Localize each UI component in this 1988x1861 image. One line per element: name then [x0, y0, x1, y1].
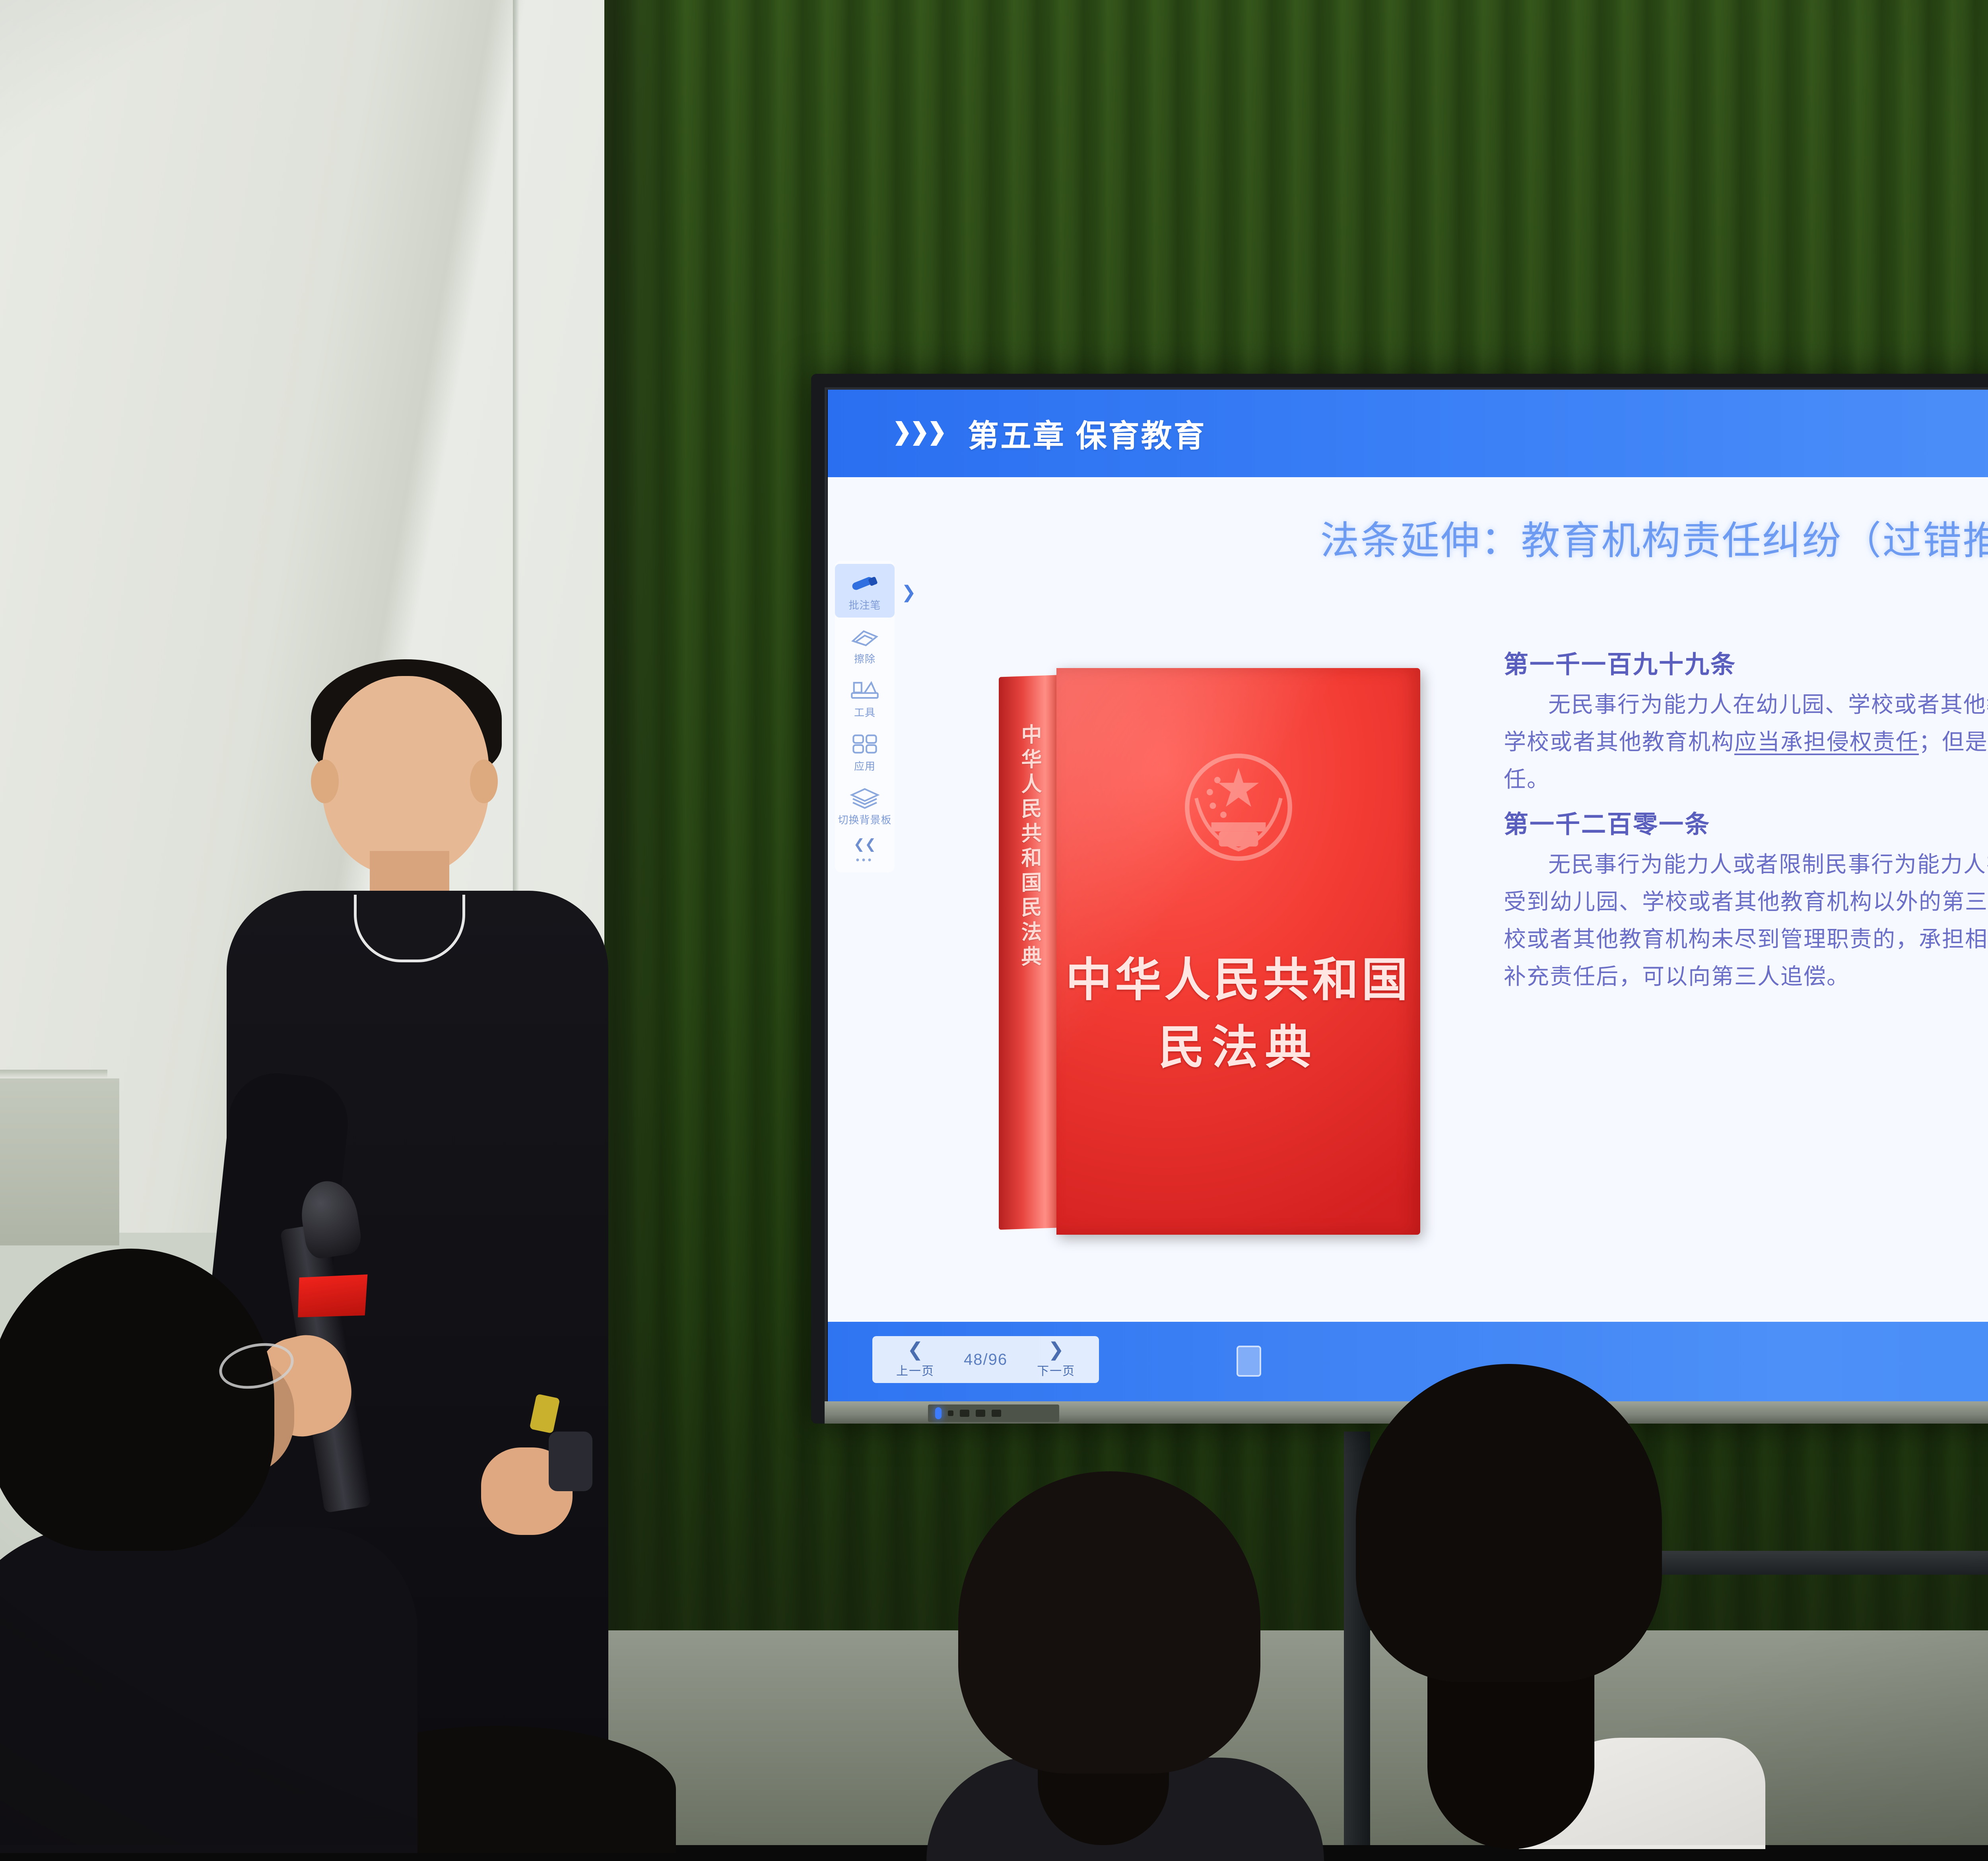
wristwatch [549, 1432, 592, 1491]
article-1199-heading: 第一千一百九十九条 [1504, 644, 1988, 680]
power-led [935, 1407, 942, 1419]
annotation-toolbar-left[interactable]: ❯ 批注笔 擦除 [835, 561, 895, 872]
mobile-cast-icon[interactable] [1237, 1346, 1261, 1377]
eraser-icon [848, 625, 881, 649]
article-1199-underline-1: 应当承担侵权责任 [1734, 730, 1919, 755]
toolbar-label-tools: 工具 [854, 705, 876, 719]
article-1201-body: 无民事行为能力人或者限制民事行为能力人在幼儿园、学校或者其他教育机构学习、生活期… [1504, 846, 1988, 996]
page-count: 48/96 [948, 1351, 1023, 1369]
double-chevron-left-icon[interactable]: ❮❮ [835, 832, 895, 854]
triple-chevron-right-icon [895, 421, 944, 446]
interactive-display[interactable]: 第五章 保育教育 法条延伸：教育机构责任纠纷（过错推定） 中华人民共和国民法典 [811, 374, 1988, 1424]
lower-wall-panel [0, 1078, 119, 1245]
law-text-column: 第一千一百九十九条 无民事行为能力人在幼儿园、学校或者其他教育机构学习、生活期间… [1504, 644, 1988, 1002]
audience-member-front-center [911, 1471, 1340, 1845]
article-1201-heading: 第一千二百零一条 [1504, 804, 1988, 840]
layers-icon [848, 786, 881, 810]
book-spine-text: 中华人民共和国民法典 [1016, 723, 1044, 971]
chevron-left-icon: ❮ [907, 1340, 923, 1360]
aux-port [992, 1410, 1001, 1417]
article-1199-body: 无民事行为能力人在幼儿园、学校或者其他教育机构学习、生活期间受到人身损害的，幼儿… [1504, 686, 1988, 798]
civil-code-book-image: 中华人民共和国民法典 中华人民共和国 [999, 668, 1420, 1241]
audience-left-body [0, 1527, 417, 1853]
book-spine: 中华人民共和国民法典 [999, 675, 1058, 1230]
audience-left-hair [0, 1249, 274, 1551]
presenter-ear-left [311, 760, 339, 803]
toolbar-item-pen[interactable]: 批注笔 [835, 564, 895, 618]
prev-page-button[interactable]: ❮ 上一页 [883, 1340, 948, 1379]
toolbar-label-layers: 切换背景板 [838, 812, 891, 827]
book-cover-line1: 中华人民共和国 [1056, 942, 1420, 1009]
chapter-title: 第五章 保育教育 [968, 411, 1206, 456]
usb-port [948, 1410, 953, 1416]
audience-right-hair [1356, 1364, 1662, 1682]
chevron-right-icon[interactable]: ❯ [901, 582, 916, 602]
audience-center-hair [958, 1471, 1260, 1774]
toolbar-item-eraser[interactable]: 擦除 [835, 618, 895, 671]
book-front-cover: 中华人民共和国 民法典 [1056, 668, 1420, 1235]
book-cover-line2: 民法典 [1056, 1010, 1420, 1077]
audience-member-front-right [1296, 1364, 1765, 1845]
next-page-button[interactable]: ❯ 下一页 [1023, 1340, 1089, 1379]
room-background: 第五章 保育教育 法条延伸：教育机构责任纠纷（过错推定） 中华人民共和国民法典 [0, 0, 1988, 1845]
china-national-emblem-icon [1163, 732, 1314, 883]
apps-icon [848, 732, 881, 756]
toolbar-label-eraser: 擦除 [854, 651, 876, 666]
prev-page-label: 上一页 [896, 1361, 934, 1379]
toolbar-item-tools[interactable]: 工具 [835, 671, 895, 725]
more-dots-icon[interactable]: ••• [835, 854, 895, 869]
slide-header-bar: 第五章 保育教育 [828, 390, 1988, 477]
hdmi-port [960, 1410, 969, 1417]
page-navigator-left[interactable]: ❮ 上一页 48/96 ❯ 下一页 [872, 1336, 1099, 1383]
port-panel[interactable] [928, 1404, 1059, 1422]
slide-title: 法条延伸：教育机构责任纠纷（过错推定） [828, 509, 1988, 565]
presenter-head [322, 676, 489, 875]
usb-port-2 [976, 1410, 985, 1417]
toolbar-label-pen: 批注笔 [848, 597, 881, 612]
audience-member-front-left [0, 1225, 394, 1845]
chevron-right-icon: ❯ [1048, 1340, 1064, 1360]
display-screen[interactable]: 第五章 保育教育 法条延伸：教育机构责任纠纷（过错推定） 中华人民共和国民法典 [828, 390, 1988, 1401]
toolbar-item-layers[interactable]: 切换背景板 [835, 779, 895, 832]
tools-icon [848, 678, 881, 702]
presenter-ear-right [470, 760, 498, 803]
toolbar-item-apps[interactable]: 应用 [835, 725, 895, 779]
toolbar-label-apps: 应用 [854, 758, 876, 773]
article-1199-text-mid: ；但是， [1919, 730, 1988, 755]
wall-ledge [0, 1070, 107, 1079]
pen-icon [848, 571, 881, 595]
next-page-label: 下一页 [1037, 1361, 1075, 1379]
